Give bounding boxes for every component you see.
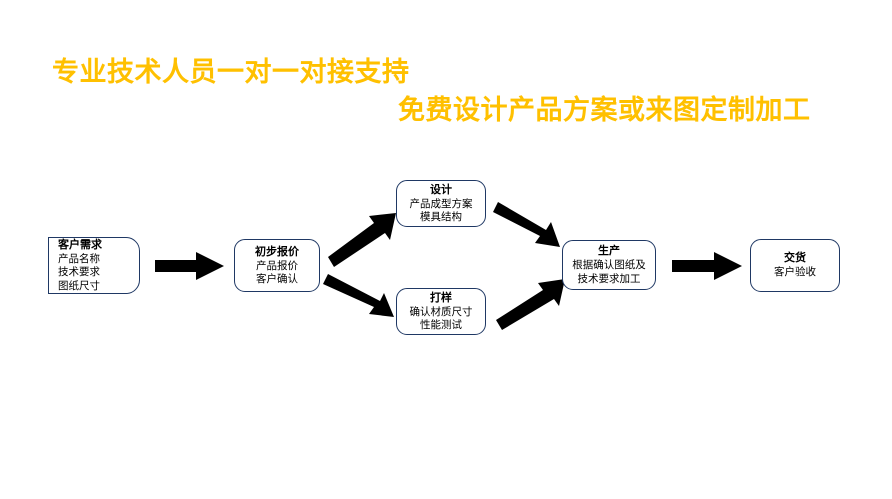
flow-node-design[interactable]: 设计 产品成型方案 模具结构: [396, 180, 486, 227]
arrow-quote-to-sample: [323, 274, 394, 317]
arrow-sample-to-produce: [496, 279, 565, 330]
flow-node-deliver-title: 交货: [784, 251, 806, 265]
flow-node-produce[interactable]: 生产 根据确认图纸及 技术要求加工: [562, 240, 656, 290]
arrow-demand-to-quote: [155, 252, 224, 280]
flow-node-design-line-1: 产品成型方案: [410, 198, 473, 211]
flow-node-deliver-line-1: 客户验收: [774, 266, 816, 279]
flow-node-sample-line-1: 确认材质尺寸: [410, 306, 473, 319]
flow-node-quote-line-2: 客户确认: [256, 273, 298, 286]
flow-node-demand-title: 客户需求: [58, 238, 139, 252]
flow-node-produce-line-2: 技术要求加工: [578, 273, 641, 286]
flow-node-quote[interactable]: 初步报价 产品报价 客户确认: [234, 239, 320, 292]
arrow-design-to-produce: [493, 202, 560, 247]
headline-secondary: 免费设计产品方案或来图定制加工: [398, 88, 811, 127]
flow-node-design-line-2: 模具结构: [420, 211, 462, 224]
flow-node-produce-title: 生产: [598, 244, 620, 258]
flow-node-deliver[interactable]: 交货 客户验收: [750, 239, 840, 292]
flow-node-sample[interactable]: 打样 确认材质尺寸 性能测试: [396, 288, 486, 335]
headline-primary: 专业技术人员一对一对接支持: [52, 50, 410, 89]
flow-node-demand-line-1: 产品名称: [58, 253, 139, 266]
slide-canvas: 专业技术人员一对一对接支持 免费设计产品方案或来图定制加工 客户需求: [0, 0, 892, 499]
flow-node-produce-line-1: 根据确认图纸及: [572, 259, 646, 272]
flow-node-sample-title: 打样: [430, 291, 452, 305]
flow-node-quote-line-1: 产品报价: [256, 260, 298, 273]
flow-node-quote-title: 初步报价: [255, 245, 299, 259]
flow-node-demand[interactable]: 客户需求 产品名称 技术要求 图纸尺寸: [48, 237, 140, 294]
flow-node-design-title: 设计: [430, 183, 452, 197]
flow-node-demand-line-2: 技术要求: [58, 266, 139, 279]
flow-node-demand-line-3: 图纸尺寸: [58, 280, 139, 293]
arrow-quote-to-design: [328, 213, 396, 267]
arrow-produce-to-deliver: [672, 252, 742, 280]
flow-node-sample-line-2: 性能测试: [420, 319, 462, 332]
